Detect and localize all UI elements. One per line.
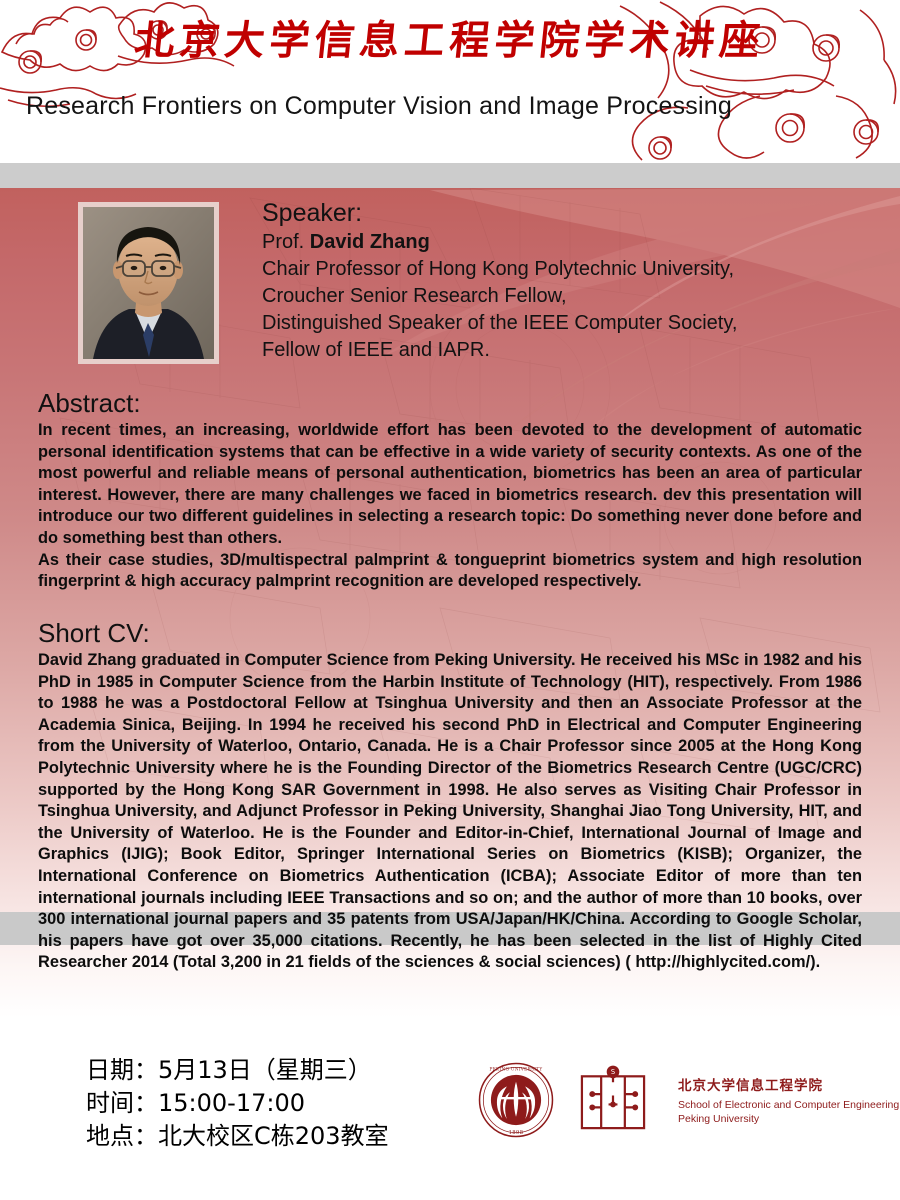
speaker-affiliation-2: Croucher Senior Research Fellow,: [262, 283, 882, 310]
event-date: 日期：5月13日（星期三）: [86, 1054, 389, 1087]
poster-english-title: Research Frontiers on Computer Vision an…: [26, 92, 732, 121]
event-time: 时间：15:00-17:00: [86, 1087, 389, 1120]
speaker-info: Speaker: Prof. David Zhang Chair Profess…: [262, 198, 882, 364]
school-name-chinese: 北京大学信息工程学院: [678, 1074, 899, 1094]
school-name-english-line2: Peking University: [678, 1113, 899, 1127]
cv-heading: Short CV:: [38, 618, 150, 649]
poster-chinese-title: 北京大学信息工程学院学术讲座: [0, 8, 900, 66]
poster-footer: 日期：5月13日（星期三） 时间：15:00-17:00 地点：北大校区C栋20…: [0, 1018, 900, 1200]
poster-header: 北京大学信息工程学院学术讲座 Research Frontiers on Com…: [0, 0, 900, 163]
cv-text: David Zhang graduated in Computer Scienc…: [38, 650, 862, 974]
event-location: 地点：北大校区C栋203教室: [86, 1120, 389, 1153]
speaker-affiliation-1: Chair Professor of Hong Kong Polytechnic…: [262, 256, 882, 283]
speaker-photo-frame: [78, 202, 219, 364]
speaker-label: Speaker:: [262, 198, 882, 229]
peking-university-seal-icon: PEKING UNIVERSITY 1898: [478, 1062, 554, 1138]
school-name-english-line1: School of Electronic and Computer Engine…: [678, 1099, 899, 1113]
speaker-name: David Zhang: [310, 231, 430, 253]
cv-paragraph-1: David Zhang graduated in Computer Scienc…: [38, 650, 862, 974]
gray-divider-band-top: [0, 163, 900, 188]
abstract-heading: Abstract:: [38, 388, 141, 419]
event-details: 日期：5月13日（星期三） 时间：15:00-17:00 地点：北大校区C栋20…: [86, 1054, 389, 1153]
speaker-prefix: Prof.: [262, 231, 310, 253]
speaker-affiliation-4: Fellow of IEEE and IAPR.: [262, 337, 882, 364]
speaker-portrait-photo: [83, 207, 214, 359]
school-of-ece-circuit-icon: S: [576, 1063, 650, 1137]
speaker-name-line: Prof. David Zhang: [262, 229, 882, 256]
school-name-block: 北京大学信息工程学院 School of Electronic and Comp…: [678, 1074, 899, 1126]
svg-text:S: S: [611, 1068, 615, 1076]
abstract-paragraph-1: In recent times, an increasing, worldwid…: [38, 420, 862, 550]
lecture-poster: 北京大学信息工程学院学术讲座 Research Frontiers on Com…: [0, 0, 900, 1200]
svg-text:1898: 1898: [509, 1130, 524, 1136]
abstract-text: In recent times, an increasing, worldwid…: [38, 420, 862, 593]
footer-logos: PEKING UNIVERSITY 1898: [478, 1062, 899, 1138]
speaker-affiliation-3: Distinguished Speaker of the IEEE Comput…: [262, 310, 882, 337]
abstract-paragraph-2: As their case studies, 3D/multispectral …: [38, 550, 862, 593]
svg-text:PEKING UNIVERSITY: PEKING UNIVERSITY: [489, 1067, 542, 1072]
